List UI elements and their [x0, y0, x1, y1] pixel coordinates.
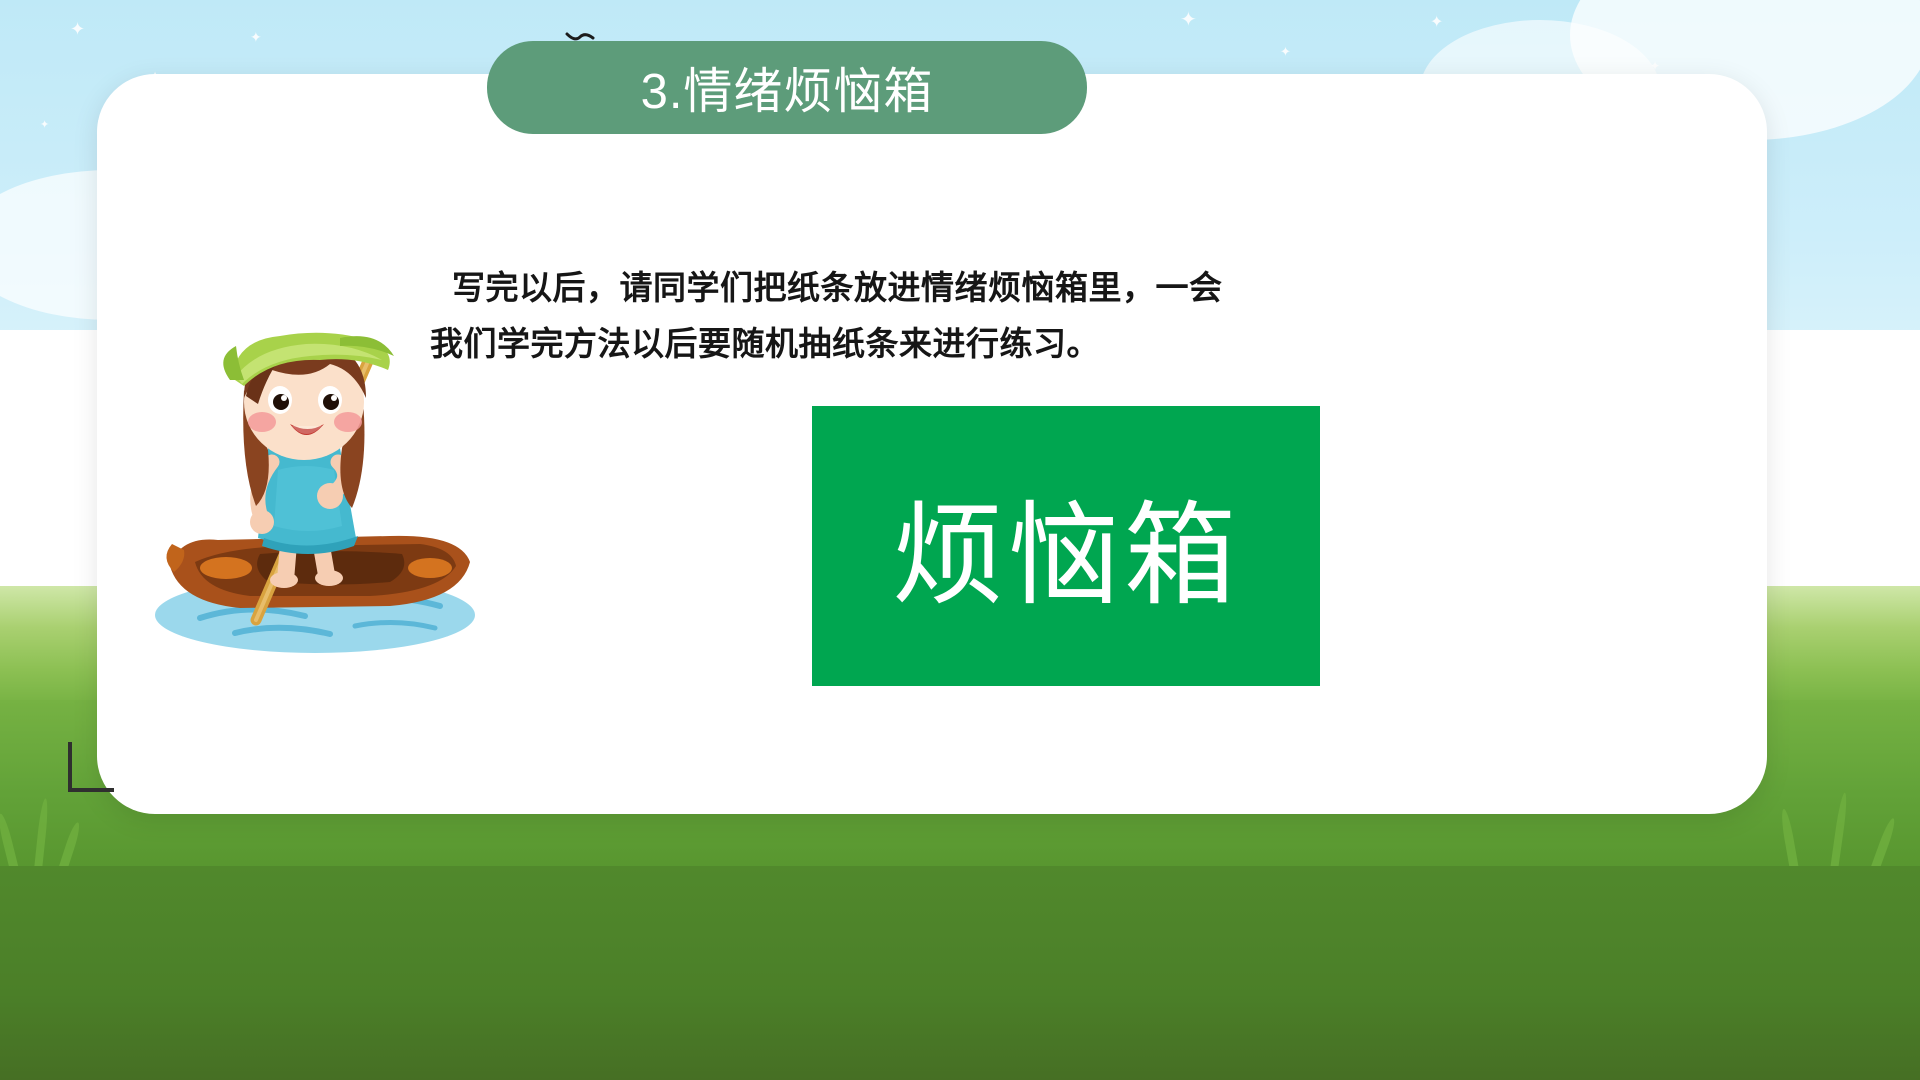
body-line-2: 我们学完方法以后要随机抽纸条来进行练习。: [430, 316, 1230, 372]
grass-layer-dark: [0, 866, 1920, 1080]
sparkle-icon: ✦: [70, 20, 85, 38]
slide-canvas: ✦ ✦ ✦ ✦ ✦ ✦ ✦ ✦ ✦ 3.情绪烦恼箱 写完以后，请同学们把纸条放进…: [0, 0, 1920, 1080]
sparkle-icon: ✦: [1650, 60, 1660, 72]
sparkle-icon: ✦: [1280, 45, 1291, 58]
body-paragraph: 写完以后，请同学们把纸条放进情绪烦恼箱里，一会 我们学完方法以后要随机抽纸条来进…: [430, 260, 1230, 372]
sparkle-icon: ✦: [40, 120, 49, 131]
worry-box-label: 烦恼箱: [892, 465, 1240, 627]
sparkle-icon: ✦: [1180, 10, 1197, 30]
section-title-pill: 3.情绪烦恼箱: [487, 41, 1087, 134]
girl-on-leaf-boat-illustration: [140, 330, 490, 660]
sparkle-icon: ✦: [250, 30, 262, 44]
corner-bracket-decoration: [68, 742, 114, 792]
body-line-1: 写完以后，请同学们把纸条放进情绪烦恼箱里，一会: [430, 260, 1230, 316]
page-title: 3.情绪烦恼箱: [641, 52, 934, 123]
worry-box-panel[interactable]: 烦恼箱: [812, 406, 1320, 686]
sparkle-icon: ✦: [1430, 15, 1443, 31]
